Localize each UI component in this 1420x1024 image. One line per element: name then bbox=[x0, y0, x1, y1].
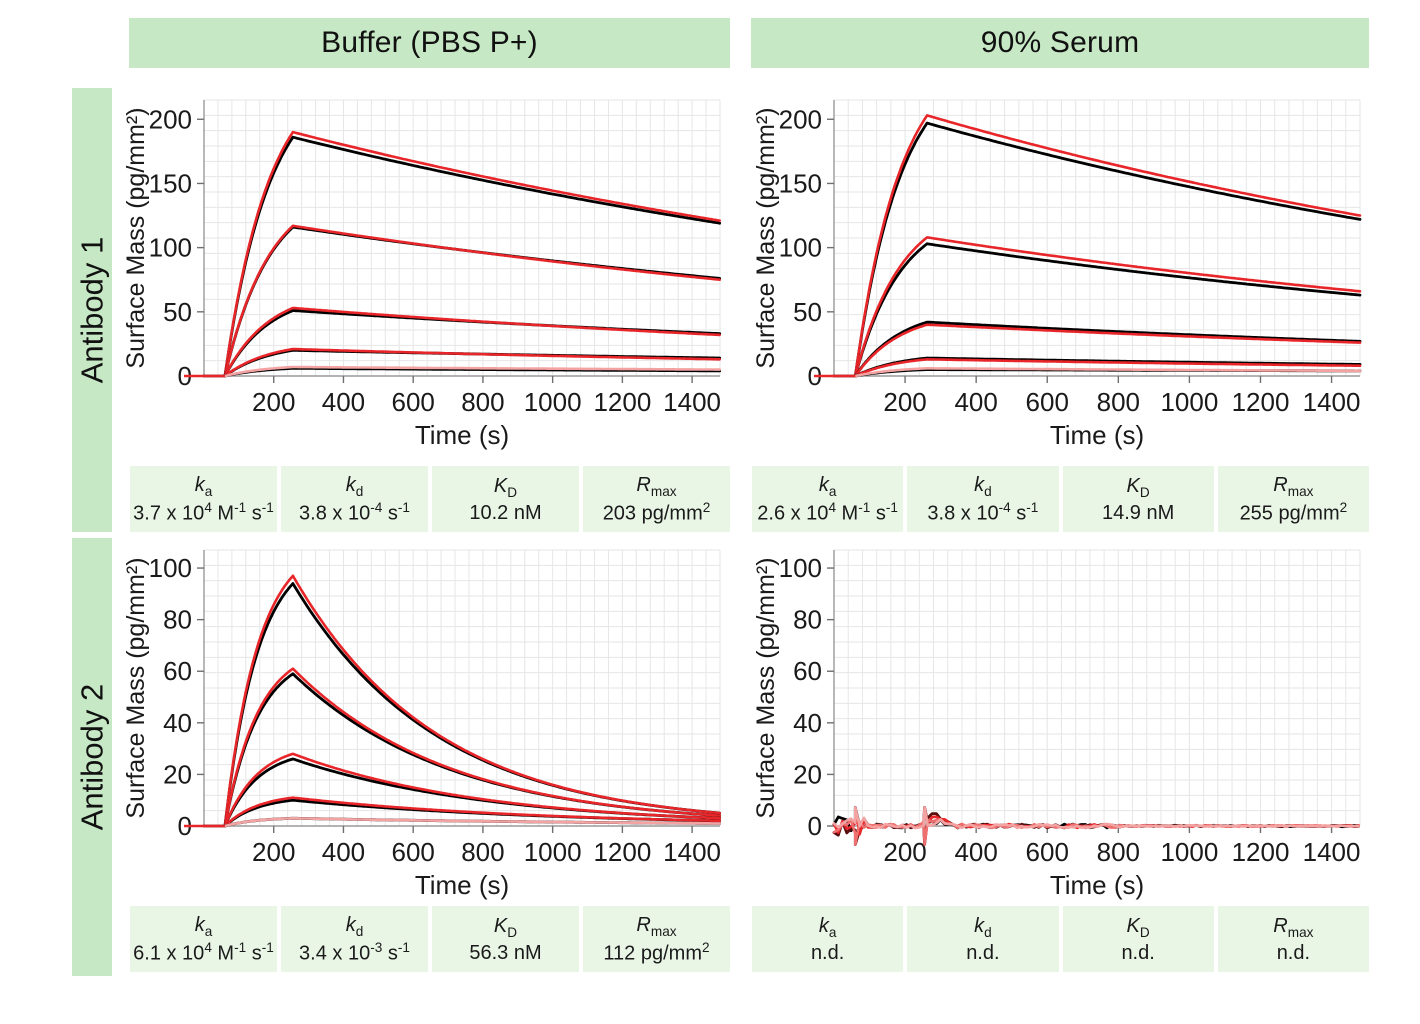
series-fit-4 bbox=[834, 359, 1360, 376]
param-label-ka: ka bbox=[819, 915, 837, 940]
param-cell-kd: kd3.8 x 10-4 s-1 bbox=[281, 466, 428, 532]
y-tick-label: 100 bbox=[149, 553, 192, 583]
param-cell-kd: kd3.8 x 10-4 s-1 bbox=[907, 466, 1058, 532]
y-tick-label: 60 bbox=[793, 656, 822, 686]
svg-text:Surface Mass (pg/mm²): Surface Mass (pg/mm²) bbox=[752, 107, 780, 368]
param-cell-KD: KD10.2 nM bbox=[432, 466, 579, 532]
svg-text:Surface Mass (pg/mm²): Surface Mass (pg/mm²) bbox=[752, 557, 780, 818]
series-fit-3 bbox=[204, 308, 720, 376]
param-label-Rmax: Rmax bbox=[636, 914, 676, 939]
series-data-1 bbox=[204, 584, 720, 827]
param-cell-ka: ka2.6 x 104 M-1 s-1 bbox=[752, 466, 903, 532]
series-fit-1 bbox=[204, 576, 720, 826]
param-value-Rmax: n.d. bbox=[1277, 941, 1310, 965]
param-cell-KD: KDn.d. bbox=[1063, 906, 1214, 972]
x-tick-label: 1400 bbox=[663, 387, 721, 417]
x-tick-label: 200 bbox=[883, 387, 926, 417]
y-tick-label: 100 bbox=[779, 553, 822, 583]
param-value-kd: 3.4 x 10-3 s-1 bbox=[299, 940, 410, 966]
chart-svg-ab1_buffer: 050100150200200400600800100012001400Time… bbox=[118, 88, 732, 450]
x-axis-title: Time (s) bbox=[415, 870, 509, 900]
x-tick-label: 600 bbox=[1026, 837, 1069, 867]
param-value-KD: 14.9 nM bbox=[1102, 501, 1174, 525]
param-cell-Rmax: Rmaxn.d. bbox=[1218, 906, 1369, 972]
x-tick-label: 400 bbox=[322, 837, 365, 867]
param-cell-ka: ka3.7 x 104 M-1 s-1 bbox=[130, 466, 277, 532]
y-axis-title: Surface Mass (pg/mm²) bbox=[122, 107, 150, 368]
param-label-kd: kd bbox=[346, 474, 364, 499]
y-tick-label: 0 bbox=[808, 811, 822, 841]
x-tick-label: 200 bbox=[252, 387, 295, 417]
param-label-ka: ka bbox=[195, 914, 213, 939]
param-cell-KD: KD56.3 nM bbox=[432, 906, 579, 972]
chart-svg-ab2_buffer: 020406080100200400600800100012001400Time… bbox=[118, 538, 732, 900]
y-tick-label: 20 bbox=[793, 759, 822, 789]
x-tick-label: 1400 bbox=[1303, 837, 1361, 867]
param-label-Rmax: Rmax bbox=[1273, 474, 1313, 499]
y-tick-label: 200 bbox=[779, 104, 822, 134]
y-tick-label: 40 bbox=[163, 708, 192, 738]
grid bbox=[834, 550, 1360, 826]
y-tick-label: 100 bbox=[779, 233, 822, 263]
x-tick-label: 800 bbox=[461, 837, 504, 867]
x-tick-label: 400 bbox=[954, 837, 997, 867]
curves bbox=[184, 132, 720, 376]
param-value-kd: 3.8 x 10-4 s-1 bbox=[927, 500, 1038, 526]
x-tick-label: 600 bbox=[391, 387, 434, 417]
plot-antibody-2-serum: 020406080100200400600800100012001400Time… bbox=[748, 538, 1372, 900]
param-table-antibody-2-serum: kan.d.kdn.d.KDn.d.Rmaxn.d. bbox=[752, 906, 1369, 972]
param-value-ka: 2.6 x 104 M-1 s-1 bbox=[757, 500, 898, 526]
param-label-kd: kd bbox=[974, 474, 992, 499]
x-tick-label: 200 bbox=[252, 837, 295, 867]
x-tick-label: 1200 bbox=[1232, 837, 1290, 867]
param-value-ka: 3.7 x 104 M-1 s-1 bbox=[133, 500, 274, 526]
x-tick-label: 600 bbox=[1026, 387, 1069, 417]
y-tick-label: 60 bbox=[163, 656, 192, 686]
param-value-ka: 6.1 x 104 M-1 s-1 bbox=[133, 940, 274, 966]
param-label-kd: kd bbox=[974, 915, 992, 940]
param-value-KD: n.d. bbox=[1121, 941, 1154, 965]
param-label-kd: kd bbox=[346, 914, 364, 939]
series-fit-1 bbox=[204, 132, 720, 376]
series-noise-3 bbox=[834, 807, 1359, 834]
x-axis-title: Time (s) bbox=[415, 420, 509, 450]
param-value-kd: 3.8 x 10-4 s-1 bbox=[299, 500, 410, 526]
row-header-antibody-2-label: Antibody 2 bbox=[74, 684, 110, 831]
x-tick-label: 800 bbox=[1097, 837, 1140, 867]
param-label-KD: KD bbox=[494, 915, 517, 940]
param-cell-Rmax: Rmax203 pg/mm2 bbox=[583, 466, 730, 532]
x-tick-label: 800 bbox=[461, 387, 504, 417]
x-tick-label: 1200 bbox=[593, 387, 651, 417]
param-value-Rmax: 112 pg/mm2 bbox=[603, 940, 709, 966]
x-tick-label: 1400 bbox=[663, 837, 721, 867]
series-data-3 bbox=[204, 759, 720, 826]
x-tick-label: 400 bbox=[322, 387, 365, 417]
plot-antibody-1-serum: 050100150200200400600800100012001400Time… bbox=[748, 88, 1372, 450]
curves bbox=[184, 576, 720, 826]
series-fit-1 bbox=[834, 115, 1360, 376]
param-value-Rmax: 203 pg/mm2 bbox=[603, 500, 711, 526]
kinetics-figure: Buffer (PBS P+) 90% Serum Antibody 1 Ant… bbox=[0, 0, 1420, 1024]
y-tick-label: 20 bbox=[163, 759, 192, 789]
param-label-KD: KD bbox=[1127, 475, 1150, 500]
param-label-Rmax: Rmax bbox=[1273, 915, 1313, 940]
y-tick-label: 50 bbox=[163, 297, 192, 327]
column-header-buffer: Buffer (PBS P+) bbox=[129, 18, 730, 68]
row-header-antibody-1-label: Antibody 1 bbox=[74, 237, 110, 384]
x-tick-label: 1000 bbox=[524, 837, 582, 867]
param-cell-ka: ka6.1 x 104 M-1 s-1 bbox=[130, 906, 277, 972]
param-cell-ka: kan.d. bbox=[752, 906, 903, 972]
param-table-antibody-1-serum: ka2.6 x 104 M-1 s-1kd3.8 x 10-4 s-1KD14.… bbox=[752, 466, 1369, 532]
param-value-Rmax: 255 pg/mm2 bbox=[1240, 500, 1348, 526]
param-label-KD: KD bbox=[1127, 915, 1150, 940]
param-value-ka: n.d. bbox=[811, 941, 844, 965]
x-axis-title: Time (s) bbox=[1050, 870, 1144, 900]
column-header-serum: 90% Serum bbox=[751, 18, 1369, 68]
param-cell-kd: kdn.d. bbox=[907, 906, 1058, 972]
curves bbox=[814, 115, 1360, 376]
svg-text:Surface Mass (pg/mm²): Surface Mass (pg/mm²) bbox=[122, 557, 150, 818]
y-tick-label: 80 bbox=[793, 605, 822, 635]
param-cell-KD: KD14.9 nM bbox=[1063, 466, 1214, 532]
y-tick-label: 80 bbox=[163, 605, 192, 635]
row-header-antibody-1: Antibody 1 bbox=[72, 88, 112, 532]
x-axis-title: Time (s) bbox=[1050, 420, 1144, 450]
param-cell-Rmax: Rmax112 pg/mm2 bbox=[583, 906, 730, 972]
series-fit-5 bbox=[834, 368, 1360, 376]
x-tick-label: 600 bbox=[391, 837, 434, 867]
chart-svg-ab2_serum: 020406080100200400600800100012001400Time… bbox=[748, 538, 1372, 900]
y-tick-label: 100 bbox=[149, 233, 192, 263]
param-label-KD: KD bbox=[494, 475, 517, 500]
param-cell-kd: kd3.4 x 10-3 s-1 bbox=[281, 906, 428, 972]
param-label-ka: ka bbox=[195, 474, 213, 499]
x-tick-label: 800 bbox=[1097, 387, 1140, 417]
series-data-2 bbox=[834, 244, 1360, 376]
param-value-kd: n.d. bbox=[966, 941, 999, 965]
chart-svg-ab1_serum: 050100150200200400600800100012001400Time… bbox=[748, 88, 1372, 450]
y-tick-label: 150 bbox=[149, 168, 192, 198]
x-tick-label: 1200 bbox=[1232, 387, 1290, 417]
y-tick-label: 50 bbox=[793, 297, 822, 327]
param-value-KD: 56.3 nM bbox=[469, 941, 541, 965]
x-tick-label: 1400 bbox=[1303, 387, 1361, 417]
y-tick-label: 150 bbox=[779, 168, 822, 198]
x-tick-label: 1200 bbox=[593, 837, 651, 867]
svg-text:Surface Mass (pg/mm²): Surface Mass (pg/mm²) bbox=[122, 107, 150, 368]
y-tick-label: 200 bbox=[149, 104, 192, 134]
x-tick-label: 200 bbox=[883, 837, 926, 867]
y-axis-title: Surface Mass (pg/mm²) bbox=[122, 557, 150, 818]
param-label-ka: ka bbox=[819, 474, 837, 499]
x-tick-label: 1000 bbox=[1160, 387, 1218, 417]
param-value-KD: 10.2 nM bbox=[469, 501, 541, 525]
param-table-antibody-2-buffer: ka6.1 x 104 M-1 s-1kd3.4 x 10-3 s-1KD56.… bbox=[130, 906, 730, 972]
y-axis-title: Surface Mass (pg/mm²) bbox=[752, 557, 780, 818]
y-tick-label: 40 bbox=[793, 708, 822, 738]
plot-antibody-2-buffer: 020406080100200400600800100012001400Time… bbox=[118, 538, 732, 900]
param-table-antibody-1-buffer: ka3.7 x 104 M-1 s-1kd3.8 x 10-4 s-1KD10.… bbox=[130, 466, 730, 532]
x-tick-label: 1000 bbox=[524, 387, 582, 417]
x-tick-label: 1000 bbox=[1160, 837, 1218, 867]
param-label-Rmax: Rmax bbox=[636, 474, 676, 499]
plot-antibody-1-buffer: 050100150200200400600800100012001400Time… bbox=[118, 88, 732, 450]
param-cell-Rmax: Rmax255 pg/mm2 bbox=[1218, 466, 1369, 532]
row-header-antibody-2: Antibody 2 bbox=[72, 538, 112, 976]
y-axis-title: Surface Mass (pg/mm²) bbox=[752, 107, 780, 368]
x-tick-label: 400 bbox=[954, 387, 997, 417]
